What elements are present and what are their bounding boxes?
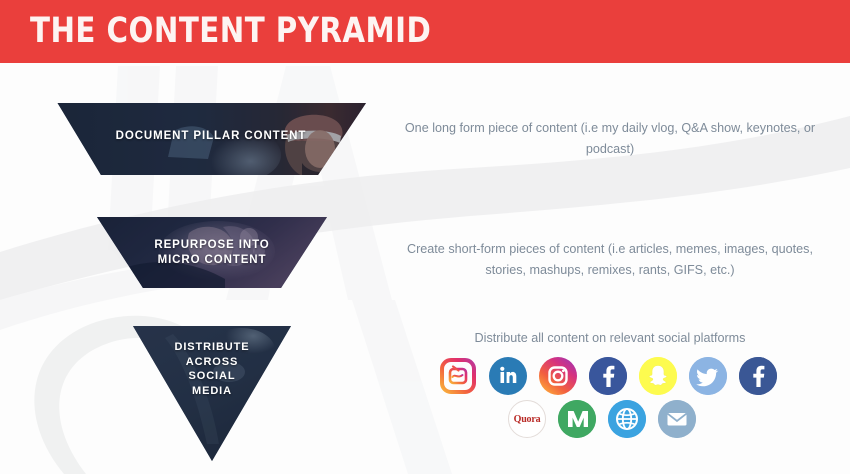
- medium-icon[interactable]: [558, 400, 596, 438]
- slide-header: THE CONTENT PYRAMID: [0, 0, 850, 63]
- pyramid-stage-2[interactable]: REPURPOSE INTO MICRO CONTENT: [97, 217, 327, 288]
- page-title: THE CONTENT PYRAMID: [30, 14, 431, 49]
- stage-2-description: Create short-form pieces of content (i.e…: [404, 239, 816, 281]
- stage-1-label: DOCUMENT PILLAR CONTENT: [56, 130, 366, 142]
- content-pyramid-slide: THE CONTENT PYRAMID: [0, 0, 850, 474]
- facebook-alt-icon[interactable]: [739, 357, 777, 395]
- stage-1-description: One long form piece of content (i.e my d…: [404, 118, 816, 160]
- pyramid-stage-3[interactable]: DISTRIBUTE ACROSS SOCIAL MEDIA: [133, 326, 291, 461]
- linkedin-icon[interactable]: [489, 357, 527, 395]
- stage-2-label: REPURPOSE INTO MICRO CONTENT: [97, 238, 327, 268]
- quora-icon[interactable]: Quora: [508, 400, 546, 438]
- twitter-icon[interactable]: [689, 357, 727, 395]
- stage-3-label: DISTRIBUTE ACROSS SOCIAL MEDIA: [133, 340, 291, 398]
- pyramid-stage-1[interactable]: DOCUMENT PILLAR CONTENT: [56, 103, 366, 175]
- social-icons-row-2: Quora: [508, 400, 696, 438]
- facebook-icon[interactable]: [589, 357, 627, 395]
- email-icon[interactable]: [658, 400, 696, 438]
- quora-label: Quora: [514, 414, 541, 425]
- web-icon[interactable]: [608, 400, 646, 438]
- stage-3-description: Distribute all content on relevant socia…: [404, 328, 816, 349]
- social-icons-row-1: [439, 357, 777, 395]
- igtv-icon[interactable]: [439, 357, 477, 395]
- instagram-icon[interactable]: [539, 357, 577, 395]
- snapchat-icon[interactable]: [639, 357, 677, 395]
